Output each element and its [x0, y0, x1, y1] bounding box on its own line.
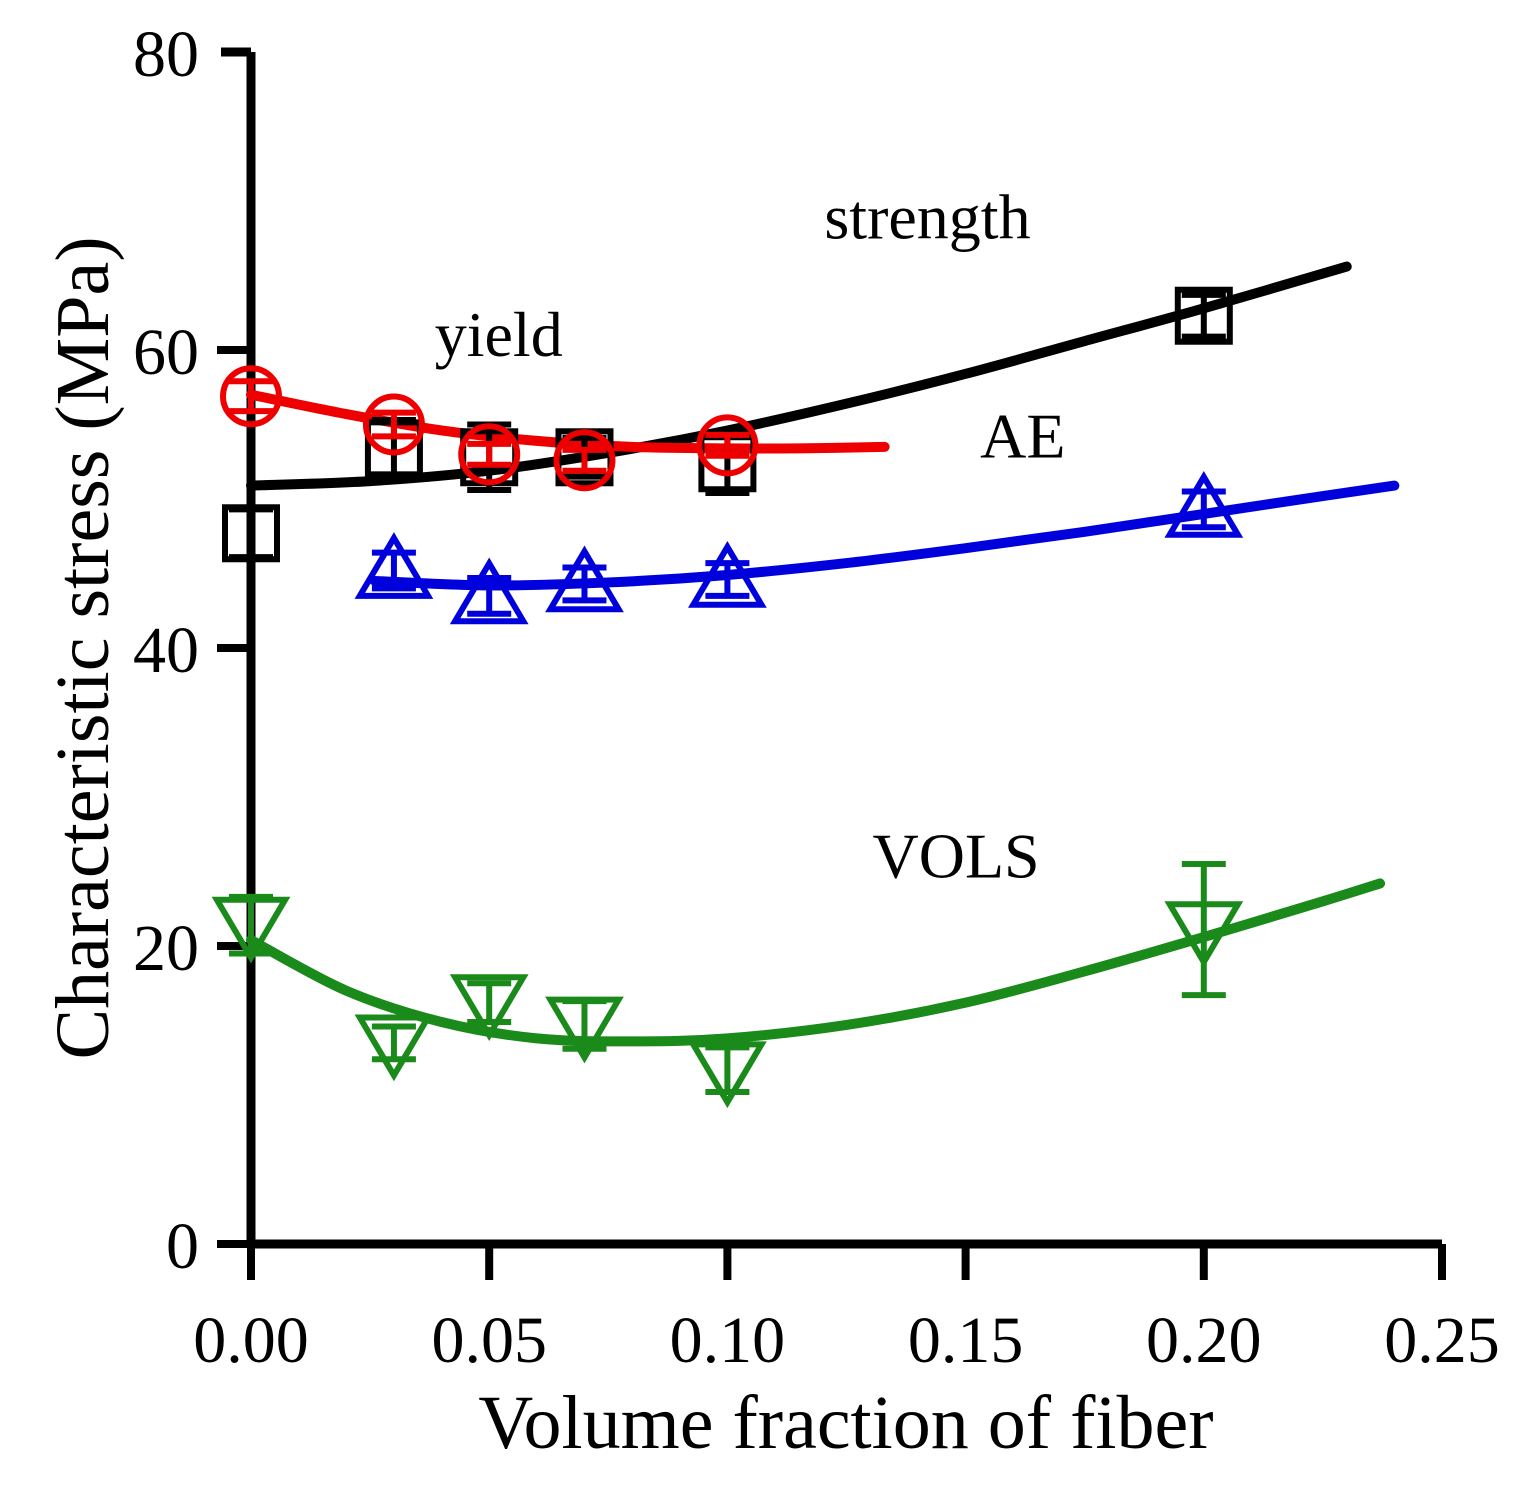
series-label-ae: AE: [980, 400, 1065, 471]
x-axis-title: Volume fraction of fiber: [478, 1381, 1213, 1465]
y-tick-label: 40: [133, 614, 199, 687]
y-tick-label: 80: [133, 18, 199, 91]
characteristic-stress-chart: 0.000.050.100.150.200.25020406080 streng…: [0, 0, 1522, 1489]
chart-page: 0.000.050.100.150.200.25020406080 streng…: [0, 0, 1522, 1489]
series-label-yield: yield: [435, 299, 563, 370]
y-tick-label: 60: [133, 316, 199, 389]
series-label-strength: strength: [824, 181, 1030, 252]
chart-background: [0, 0, 1522, 1489]
data-point-strength: [225, 507, 277, 559]
x-tick-label: 0.25: [1384, 1304, 1500, 1377]
y-tick-label: 20: [133, 912, 199, 985]
series-label-vols: VOLS: [873, 820, 1040, 891]
x-tick-label: 0.20: [1146, 1304, 1262, 1377]
data-point-strength: [1178, 290, 1230, 342]
y-axis-title: Characteristic stress (MPa): [41, 236, 125, 1059]
x-tick-label: 0.15: [908, 1304, 1024, 1377]
x-tick-label: 0.10: [670, 1304, 786, 1377]
x-tick-label: 0.05: [431, 1304, 547, 1377]
y-tick-label: 0: [166, 1210, 199, 1283]
x-tick-label: 0.00: [193, 1304, 309, 1377]
